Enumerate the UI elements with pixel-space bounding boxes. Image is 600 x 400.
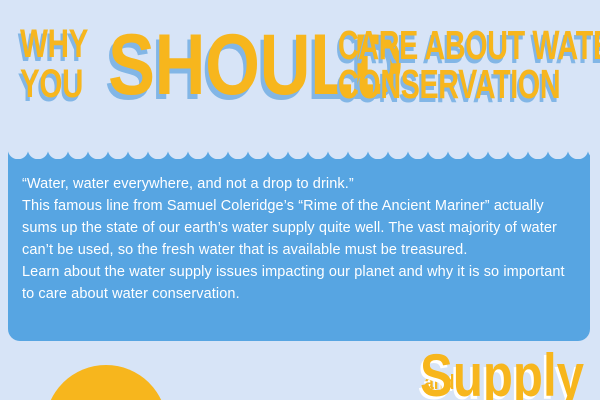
infographic-page: WHY YOU SHOULD CARE ABOUT WATER CONSERVA… — [0, 0, 600, 400]
headline-line-conservation: CONSERVATION — [338, 64, 560, 105]
scalloped-wave-edge — [8, 147, 590, 159]
headline-word-why: WHY — [20, 24, 88, 64]
bottom-section: 99.7% and Supply — [0, 341, 600, 400]
headline-banner: WHY YOU SHOULD CARE ABOUT WATER CONSERVA… — [0, 0, 600, 128]
intro-paragraph: “Water, water everywhere, and not a drop… — [22, 173, 578, 305]
intro-panel: “Water, water everywhere, and not a drop… — [8, 147, 590, 341]
headline-word-you: YOU — [20, 64, 83, 104]
supply-heading-title: Supply — [420, 346, 584, 400]
headline-line-care-about-water: CARE ABOUT WATER — [338, 25, 600, 66]
stat-circle-badge — [45, 365, 167, 400]
intro-panel-text: “Water, water everywhere, and not a drop… — [22, 173, 578, 305]
